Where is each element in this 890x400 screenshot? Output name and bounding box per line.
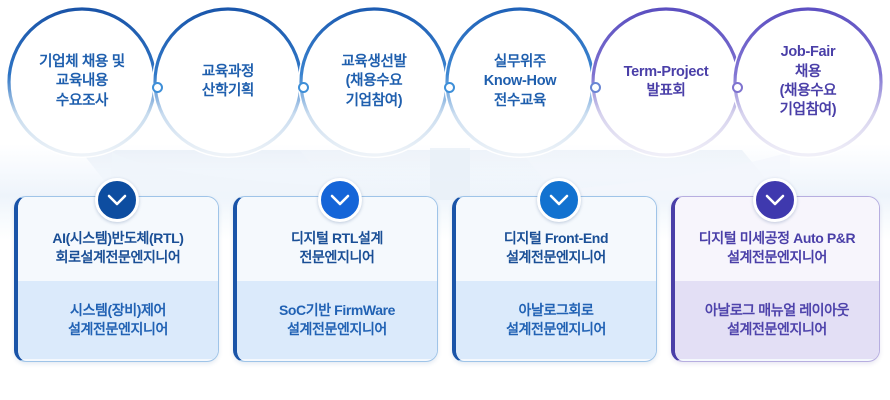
track-card-secondary-section: 아날로그 매뉴얼 레이아웃 설계전문엔지니어 [675, 281, 879, 359]
step-joint-4-5 [590, 82, 601, 93]
process-step-6[interactable]: Job-Fair 채용 (채용수요 기업참여) [732, 6, 884, 158]
track-card-secondary-label: 아날로그 매뉴얼 레이아웃 설계전문엔지니어 [705, 301, 849, 339]
process-step-row: 기업체 채용 및 교육내용 수요조사 교육과정 산학기획 [0, 6, 890, 158]
step-joint-3-4 [444, 82, 455, 93]
step-joint-1-2 [152, 82, 163, 93]
process-step-1[interactable]: 기업체 채용 및 교육내용 수요조사 [6, 6, 158, 158]
process-step-label: 실무위주 Know-How 전수교육 [470, 53, 571, 111]
track-card-primary-label: 디지털 Front-End 설계전문엔지니어 [504, 229, 608, 267]
track-card-secondary-section: 아날로그회로 설계전문엔지니어 [456, 281, 656, 359]
track-card-secondary-label: 시스템(장비)제어 설계전문엔지니어 [68, 301, 168, 339]
process-diagram: 기업체 채용 및 교육내용 수요조사 교육과정 산학기획 [0, 0, 890, 400]
chevron-down-icon-4[interactable] [753, 178, 797, 222]
track-card-secondary-label: SoC기반 FirmWare 설계전문엔지니어 [279, 301, 395, 339]
track-card-row: AI(시스템)반도체(RTL) 회로설계전문엔지니어 시스템(장비)제어 설계전… [0, 196, 890, 376]
process-step-4[interactable]: 실무위주 Know-How 전수교육 [444, 6, 596, 158]
chevron-down-icon-2[interactable] [318, 178, 362, 222]
track-card-primary-label: 디지털 미세공정 Auto P&R 설계전문엔지니어 [699, 229, 855, 267]
process-step-label: 교육생선발 (채용수요 기업참여) [327, 53, 420, 111]
process-step-label: 교육과정 산학기획 [188, 63, 268, 102]
track-card-secondary-section: SoC기반 FirmWare 설계전문엔지니어 [237, 281, 437, 359]
track-card-secondary-label: 아날로그회로 설계전문엔지니어 [506, 301, 606, 339]
track-card-primary-label: AI(시스템)반도체(RTL) 회로설계전문엔지니어 [52, 229, 183, 267]
process-step-label: 기업체 채용 및 교육내용 수요조사 [25, 53, 139, 111]
chevron-down-icon-3[interactable] [537, 178, 581, 222]
process-step-5[interactable]: Term-Project 발표회 [590, 6, 742, 158]
track-card-primary-label: 디지털 RTL설계 전문엔지니어 [291, 229, 383, 267]
step-joint-5-6 [732, 82, 743, 93]
process-step-3[interactable]: 교육생선발 (채용수요 기업참여) [298, 6, 450, 158]
process-step-label: Term-Project 발표회 [610, 63, 723, 102]
process-step-label: Job-Fair 채용 (채용수요 기업참여) [766, 43, 851, 121]
step-joint-2-3 [298, 82, 309, 93]
process-step-2[interactable]: 교육과정 산학기획 [152, 6, 304, 158]
chevron-down-icon-1[interactable] [95, 178, 139, 222]
track-card-secondary-section: 시스템(장비)제어 설계전문엔지니어 [18, 281, 218, 359]
